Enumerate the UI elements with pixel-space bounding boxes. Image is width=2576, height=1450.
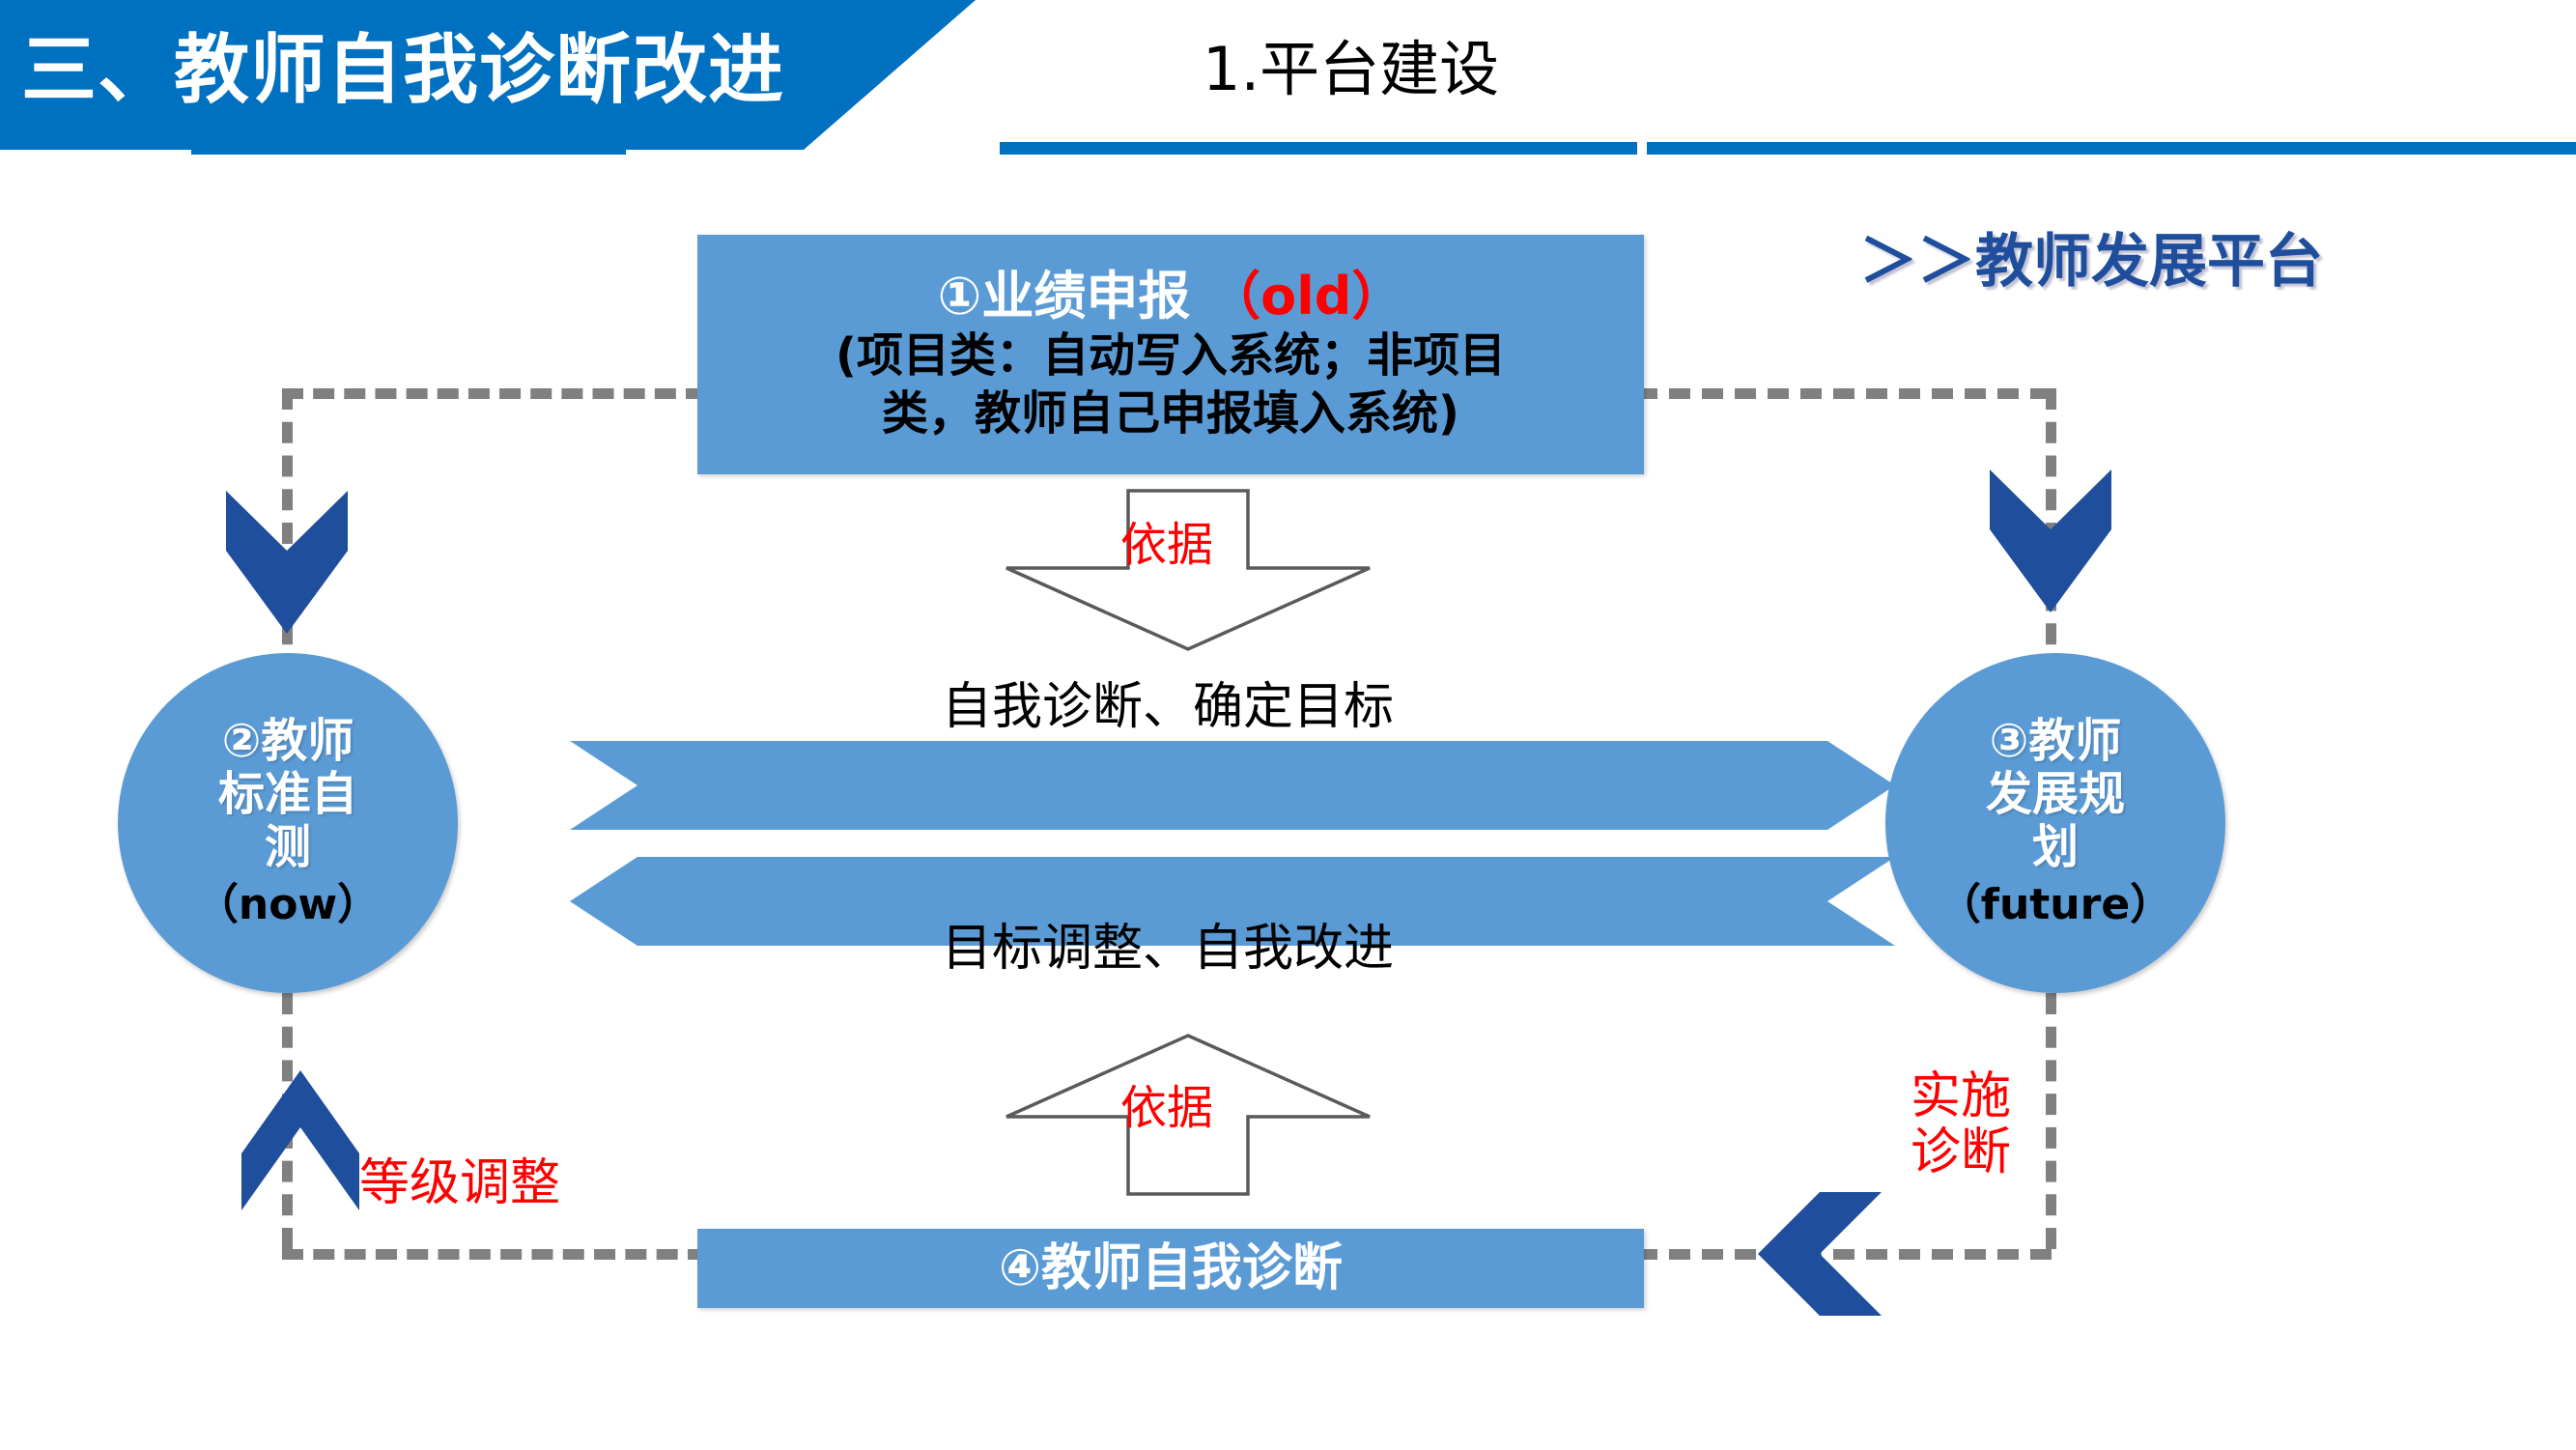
node-teacher-standard-self-test[interactable]: ②教师 标准自 测 （now）: [118, 653, 458, 993]
self-test-tag: （now）: [196, 878, 380, 932]
forward-flow-arrow: [570, 741, 1895, 830]
dashed-path-bottom-left: [282, 1249, 709, 1260]
forward-flow-label: 自我诊断、确定目标: [942, 682, 1394, 732]
header-rule-right: [1647, 142, 2576, 155]
chevron-up-left-icon: [241, 1070, 359, 1210]
node-teacher-development-plan[interactable]: ③教师 发展规 划 （future）: [1885, 653, 2225, 993]
dashed-path-right-lower: [2046, 993, 2056, 1249]
declaration-detail-line2: 类，教师自己申报填入系统): [882, 384, 1459, 442]
declaration-old-tag: （old）: [1208, 266, 1403, 327]
dashed-path-top-left: [282, 388, 707, 399]
header-subtitle: 1.平台建设: [1203, 21, 1499, 118]
page-title: 三、教师自我诊断改进: [21, 17, 891, 124]
grade-adjust-note: 等级调整: [359, 1155, 560, 1211]
teacher-development-platform-label: ＞＞教师发展平台: [1859, 214, 2323, 299]
dashed-path-bottom-right: [1636, 1249, 2052, 1260]
self-test-line1: ②教师: [197, 715, 380, 768]
basis-up-arrow-label: 依据: [1120, 1085, 1213, 1131]
plan-tag: （future）: [1939, 878, 2172, 932]
header-rule-under-banner: [191, 145, 626, 155]
header-rule-left: [1000, 142, 1637, 155]
self-test-line2: 标准自: [193, 768, 382, 821]
dashed-path-left-vertical: [282, 388, 293, 678]
diagnosis-title: ④教师自我诊断: [999, 1239, 1343, 1297]
declaration-title: ①业绩申报 （old）: [938, 267, 1404, 327]
implement-diagnosis-note-line2: 诊断: [1911, 1124, 2011, 1180]
implement-diagnosis-note-line1: 实施: [1911, 1068, 2011, 1124]
node-performance-declaration[interactable]: ①业绩申报 （old） (项目类：自动写入系统；非项目 类，教师自己申报填入系统…: [697, 235, 1644, 474]
basis-down-arrow-label: 依据: [1120, 522, 1213, 568]
backward-flow-label: 目标调整、自我改进: [942, 924, 1394, 974]
node-teacher-self-diagnosis[interactable]: ④教师自我诊断: [697, 1229, 1644, 1308]
plan-line2: 发展规: [1961, 768, 2150, 821]
self-test-line3: 测: [240, 821, 336, 874]
declaration-detail-line1: (项目类：自动写入系统；非项目: [835, 327, 1506, 384]
plan-line3: 划: [2007, 821, 2104, 874]
plan-line1: ③教师: [1965, 715, 2147, 768]
dashed-path-top-right: [1636, 388, 2052, 399]
declaration-title-text: ①业绩申报: [938, 266, 1191, 327]
